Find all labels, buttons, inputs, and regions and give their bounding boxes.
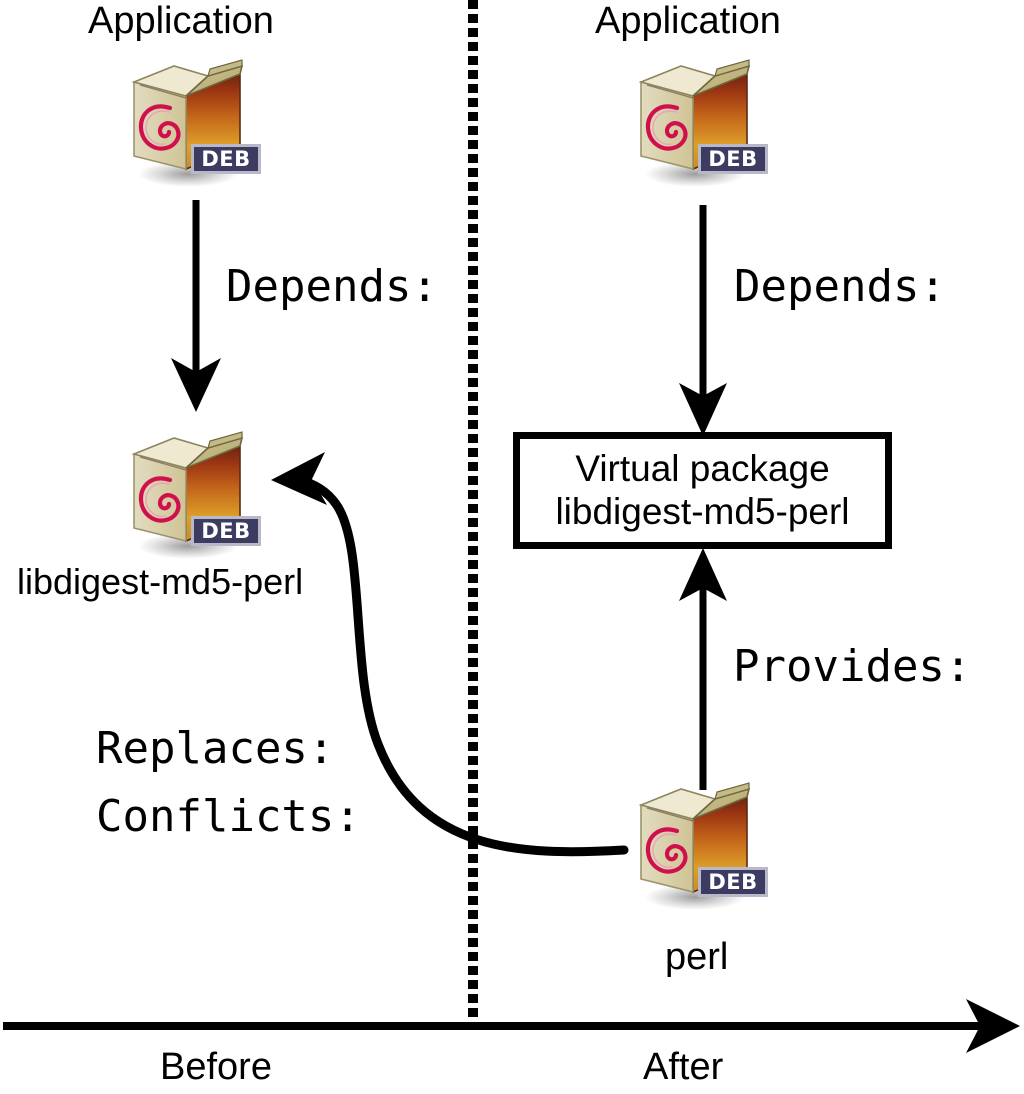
timeline-arrow-icon xyxy=(3,999,1020,1053)
debian-package-icon xyxy=(619,775,779,917)
package-icon-application-left xyxy=(112,52,272,194)
virtual-package-line1: Virtual package xyxy=(575,448,829,491)
timeline-label-before: Before xyxy=(160,1048,272,1086)
libdigest-md5-perl-label: libdigest-md5-perl xyxy=(17,564,303,600)
conflicts-label: Conflicts: xyxy=(96,795,361,839)
perl-label: perl xyxy=(665,938,728,976)
depends-label-right: Depends: xyxy=(734,265,946,309)
arrow-down-icon-depends-left xyxy=(171,200,221,412)
depends-label-left: Depends: xyxy=(226,265,438,309)
debian-package-icon xyxy=(112,424,272,566)
debian-package-icon xyxy=(619,52,779,194)
provides-label: Provides: xyxy=(733,645,971,689)
app-left-title: Application xyxy=(88,2,274,40)
virtual-package-box: Virtual package libdigest-md5-perl xyxy=(513,432,892,549)
package-icon-perl xyxy=(619,775,779,917)
package-icon-libdigest-md5-perl xyxy=(112,424,272,566)
virtual-package-line2: libdigest-md5-perl xyxy=(555,491,849,534)
replaces-label: Replaces: xyxy=(96,727,334,771)
arrow-down-icon-depends-right xyxy=(679,205,727,436)
dotted-divider-icon xyxy=(468,0,478,1030)
timeline-label-after: After xyxy=(643,1048,723,1086)
arrow-up-icon-provides xyxy=(679,548,727,790)
app-right-title: Application xyxy=(595,2,781,40)
debian-package-icon xyxy=(112,52,272,194)
diagram-canvas: DEB Application Depends: libdigest-md5-p… xyxy=(0,0,1024,1094)
package-icon-application-right xyxy=(619,52,779,194)
